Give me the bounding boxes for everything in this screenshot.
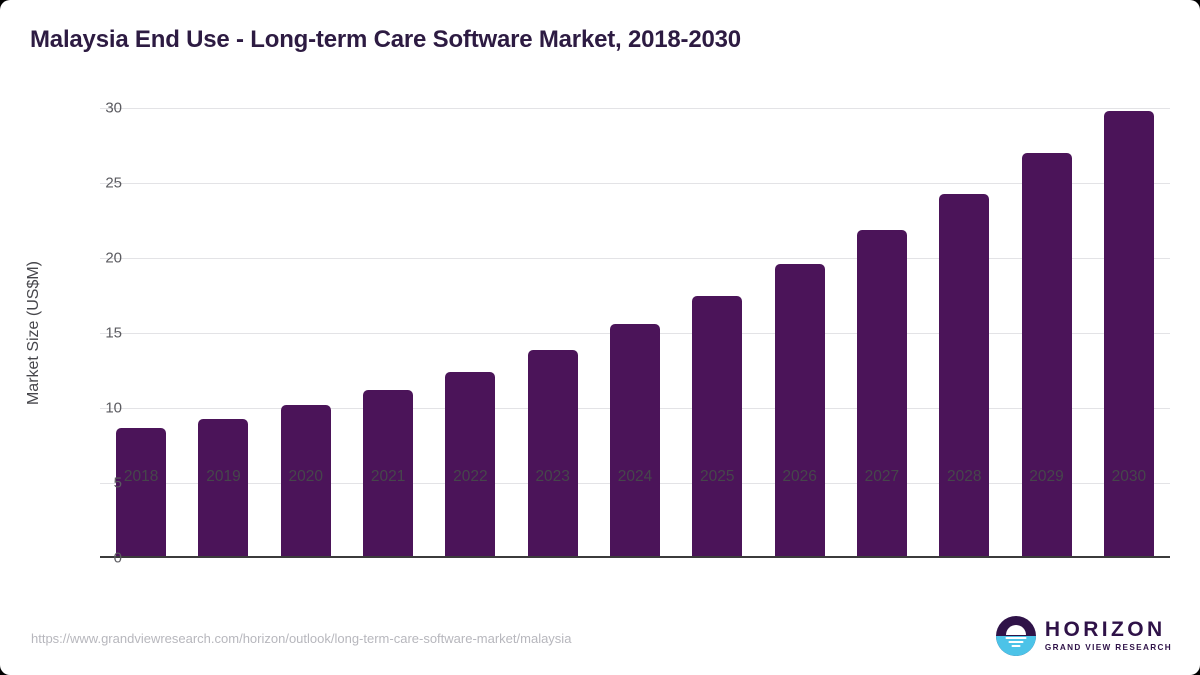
x-axis-tick-label: 2026 bbox=[758, 468, 840, 486]
x-axis-tick-label: 2021 bbox=[347, 468, 429, 486]
x-axis-tick-label: 2023 bbox=[512, 468, 594, 486]
y-axis-tick-label: 20 bbox=[62, 250, 122, 267]
y-axis-tick-label: 10 bbox=[62, 400, 122, 417]
plot-area bbox=[100, 108, 1170, 558]
bar-series bbox=[100, 108, 1170, 558]
bar-slot bbox=[265, 108, 347, 558]
x-axis-tick-label: 2024 bbox=[594, 468, 676, 486]
x-axis-tick-label: 2019 bbox=[182, 468, 264, 486]
bar-slot bbox=[841, 108, 923, 558]
logo-ray-3 bbox=[1011, 645, 1020, 647]
x-axis-tick-label: 2029 bbox=[1005, 468, 1087, 486]
bar-slot bbox=[676, 108, 758, 558]
x-axis-tick-label: 2030 bbox=[1088, 468, 1170, 486]
page-title: Malaysia End Use - Long-term Care Softwa… bbox=[30, 26, 741, 54]
y-axis-tick-label: 15 bbox=[62, 325, 122, 342]
bar[interactable] bbox=[1022, 153, 1072, 558]
bar[interactable] bbox=[198, 419, 248, 559]
bar[interactable] bbox=[692, 296, 742, 559]
source-url[interactable]: https://www.grandviewresearch.com/horizo… bbox=[31, 631, 571, 646]
horizon-logo: HORIZON GRAND VIEW RESEARCH bbox=[996, 616, 1172, 656]
bar[interactable] bbox=[939, 194, 989, 559]
horizon-sun-circle-icon bbox=[996, 616, 1036, 656]
y-axis-title-text: Market Size (US$M) bbox=[25, 261, 43, 405]
logo-ray-2 bbox=[1008, 641, 1023, 643]
chart-page: Malaysia End Use - Long-term Care Softwa… bbox=[0, 0, 1200, 675]
x-axis-tick-label: 2027 bbox=[841, 468, 923, 486]
y-axis-tick-label: 0 bbox=[62, 550, 122, 567]
logo-dome-shape bbox=[1006, 625, 1026, 635]
y-axis-tick-label: 30 bbox=[62, 100, 122, 117]
bar-slot bbox=[512, 108, 594, 558]
bar[interactable] bbox=[116, 428, 166, 559]
bar[interactable] bbox=[857, 230, 907, 559]
bar-slot bbox=[923, 108, 1005, 558]
x-axis-tick-label: 2028 bbox=[923, 468, 1005, 486]
bar[interactable] bbox=[528, 350, 578, 559]
bar-slot bbox=[758, 108, 840, 558]
bar-slot bbox=[182, 108, 264, 558]
x-axis-tick-label: 2018 bbox=[100, 468, 182, 486]
logo-subtitle: GRAND VIEW RESEARCH bbox=[1045, 644, 1172, 652]
logo-wordmark: HORIZON bbox=[1045, 619, 1172, 640]
x-axis-tick-label: 2025 bbox=[676, 468, 758, 486]
x-axis-tick-label: 2020 bbox=[265, 468, 347, 486]
y-axis-title: Market Size (US$M) bbox=[22, 108, 46, 558]
y-axis-tick-label: 25 bbox=[62, 175, 122, 192]
bar[interactable] bbox=[1104, 111, 1154, 558]
x-axis-tick-label: 2022 bbox=[429, 468, 511, 486]
bar-slot bbox=[347, 108, 429, 558]
bar[interactable] bbox=[445, 372, 495, 558]
bar-slot bbox=[1005, 108, 1087, 558]
bar-slot bbox=[429, 108, 511, 558]
bar[interactable] bbox=[610, 324, 660, 558]
bar-slot bbox=[594, 108, 676, 558]
x-axis-line bbox=[100, 556, 1170, 558]
logo-ray-1 bbox=[1005, 637, 1026, 639]
logo-text-block: HORIZON GRAND VIEW RESEARCH bbox=[1045, 619, 1172, 652]
bar-slot bbox=[1088, 108, 1170, 558]
bar[interactable] bbox=[775, 264, 825, 558]
